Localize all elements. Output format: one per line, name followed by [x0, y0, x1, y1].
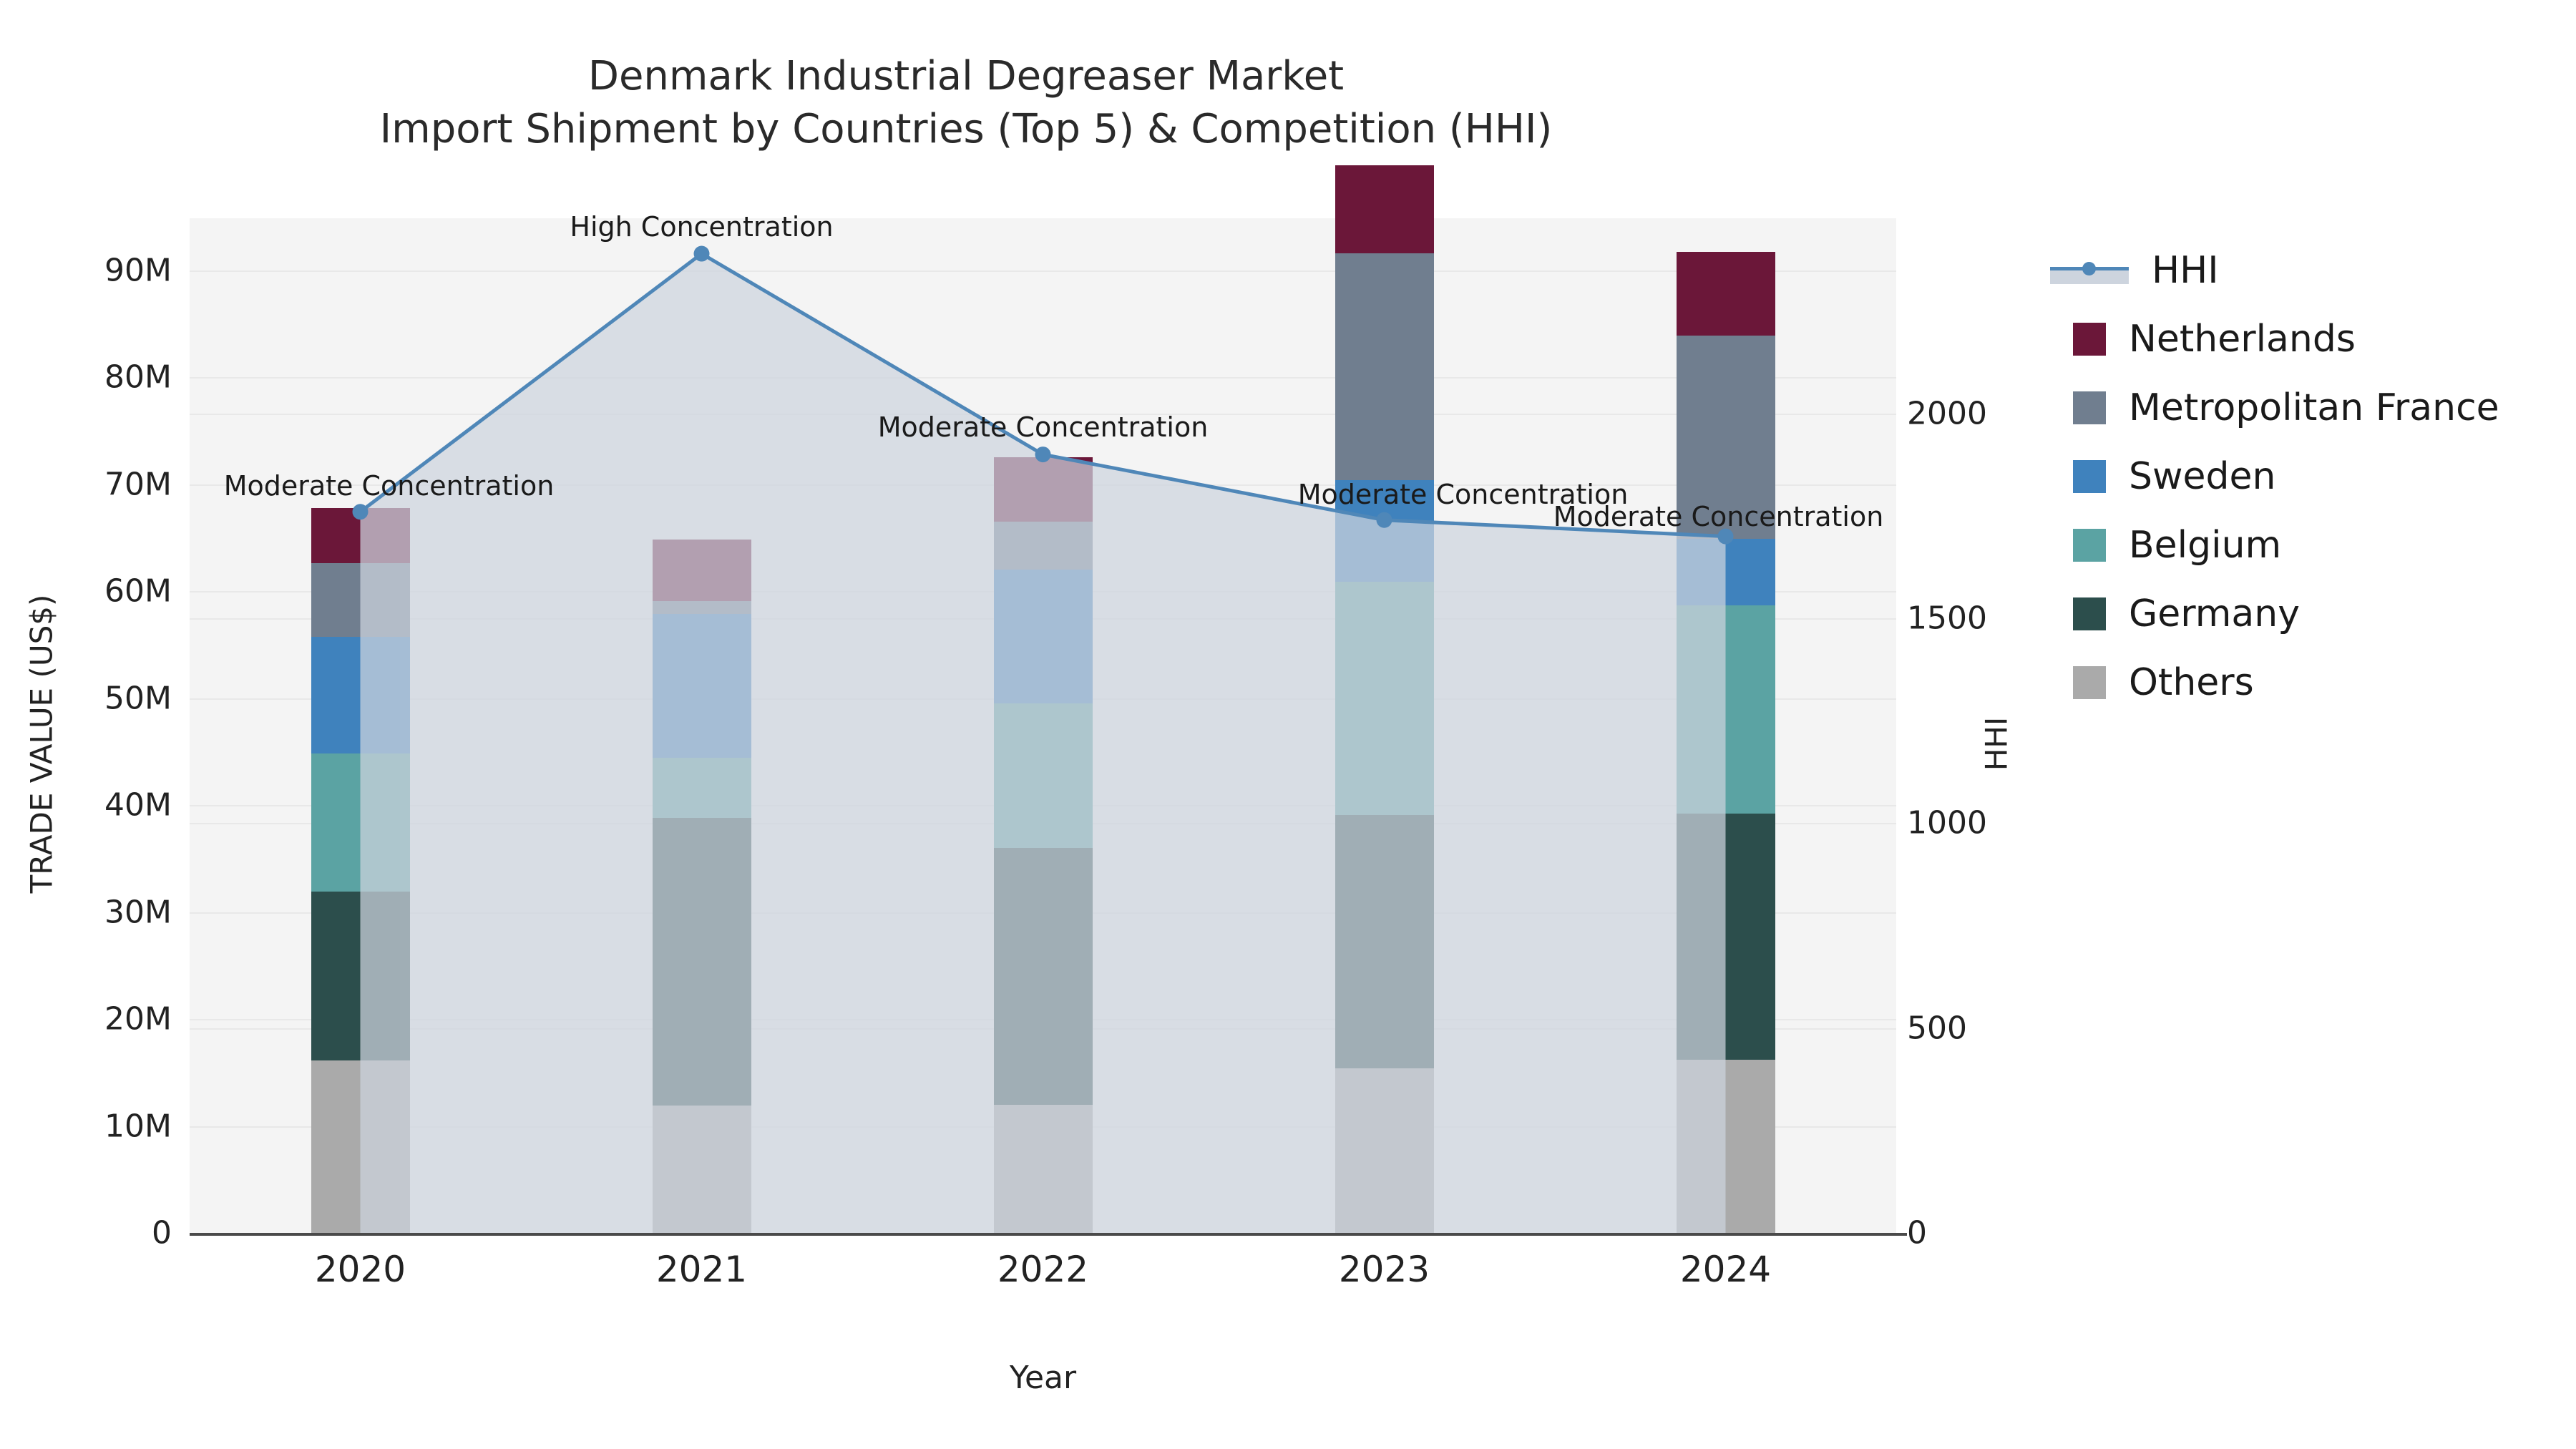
y-tick-left: 30M: [7, 894, 172, 930]
y-tick-right: 0: [1907, 1215, 2086, 1252]
hhi-line-overlay: [190, 218, 1896, 1234]
legend-swatch-icon: [2073, 529, 2106, 562]
legend-marker-dot: [2082, 262, 2096, 275]
legend-swatch-icon: [2073, 323, 2106, 356]
legend-item-metropolitan-france[interactable]: Metropolitan France: [2050, 374, 2499, 442]
annotation-2024: Moderate Concentration: [1553, 501, 1884, 532]
x-tick-2020: 2020: [253, 1249, 468, 1290]
annotation-2021: High Concentration: [570, 211, 833, 243]
legend-swatch-icon: [2073, 391, 2106, 424]
legend-label: Netherlands: [2129, 318, 2356, 361]
y-tick-left: 20M: [7, 1001, 172, 1038]
hhi-point-2022[interactable]: [1035, 447, 1051, 462]
legend-label: Sweden: [2129, 455, 2276, 498]
hhi-point-2023[interactable]: [1377, 512, 1392, 528]
legend-line-key-icon: [2050, 254, 2129, 287]
y-tick-left: 0: [7, 1215, 172, 1252]
legend-label: HHI: [2152, 249, 2219, 292]
annotation-2020: Moderate Concentration: [224, 470, 555, 502]
legend-item-belgium[interactable]: Belgium: [2050, 511, 2499, 580]
chart-title-line-2: Import Shipment by Countries (Top 5) & C…: [0, 103, 1932, 156]
hhi-point-2020[interactable]: [353, 504, 369, 519]
chart-title: Denmark Industrial Degreaser Market Impo…: [0, 50, 1932, 156]
y-tick-left: 10M: [7, 1108, 172, 1144]
hhi-point-2021[interactable]: [694, 246, 710, 262]
legend-swatch-icon: [2073, 597, 2106, 630]
legend: HHINetherlandsMetropolitan FranceSwedenB…: [2050, 236, 2499, 717]
y-axis-left-title: TRADE VALUE (US$): [24, 594, 59, 894]
legend-swatch-icon: [2073, 666, 2106, 699]
hhi-area-fill: [361, 254, 1726, 1233]
legend-label: Metropolitan France: [2129, 386, 2499, 429]
y-tick-left: 80M: [7, 359, 172, 396]
x-tick-2021: 2021: [595, 1249, 809, 1290]
chart-title-line-1: Denmark Industrial Degreaser Market: [0, 50, 1932, 103]
x-axis-title: Year: [190, 1360, 1896, 1396]
x-tick-2022: 2022: [936, 1249, 1151, 1290]
legend-item-hhi[interactable]: HHI: [2050, 236, 2499, 305]
annotation-2022: Moderate Concentration: [878, 411, 1209, 443]
x-axis-line: [190, 1233, 1907, 1236]
legend-label: Germany: [2129, 592, 2300, 635]
y-tick-right: 500: [1907, 1010, 2086, 1046]
legend-item-netherlands[interactable]: Netherlands: [2050, 305, 2499, 374]
y-tick-left: 70M: [7, 466, 172, 502]
legend-label: Belgium: [2129, 524, 2281, 567]
y-axis-right-title: HHI: [1979, 623, 2014, 866]
legend-swatch-icon: [2073, 460, 2106, 493]
legend-item-germany[interactable]: Germany: [2050, 580, 2499, 648]
legend-item-sweden[interactable]: Sweden: [2050, 442, 2499, 511]
x-tick-2024: 2024: [1619, 1249, 1833, 1290]
y-tick-left: 90M: [7, 252, 172, 288]
legend-label: Others: [2129, 661, 2254, 704]
legend-item-others[interactable]: Others: [2050, 648, 2499, 717]
x-tick-2023: 2023: [1277, 1249, 1492, 1290]
